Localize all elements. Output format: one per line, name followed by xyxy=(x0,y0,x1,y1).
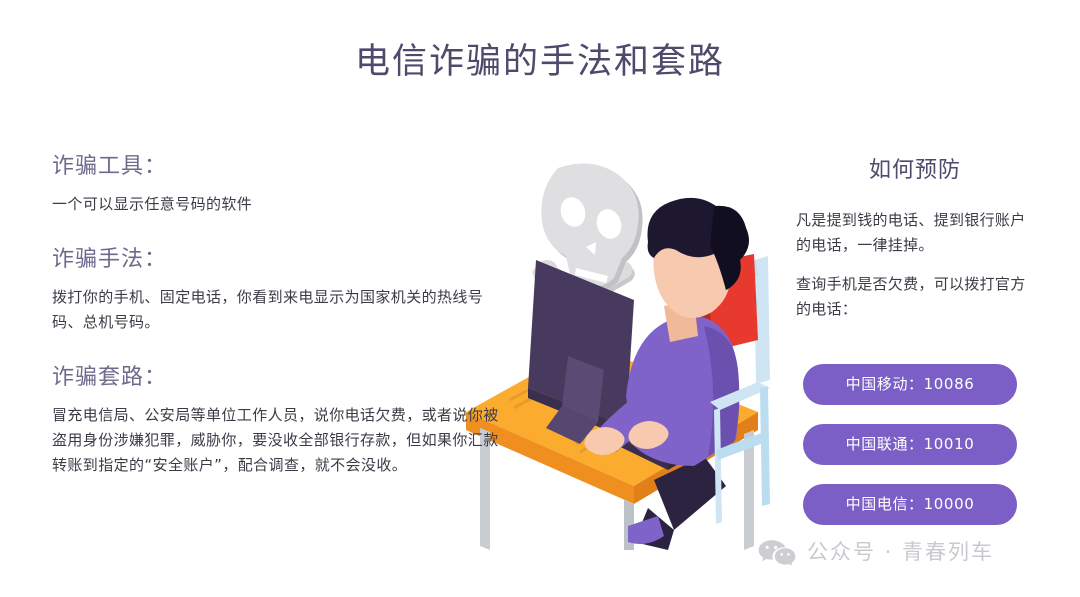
fraud-routine-section: 诈骗套路： 冒充电信局、公安局等单位工作人员，说你电话欠费，或者说你被盗用身份涉… xyxy=(52,363,502,478)
right-column: 如何预防 凡是提到钱的电话、提到银行账户的电话，一律挂掉。 查询手机是否欠费，可… xyxy=(790,156,1040,336)
chair-seat xyxy=(710,382,770,524)
fraud-methods-heading: 诈骗手法： xyxy=(52,245,502,275)
fraud-tools-body: 一个可以显示任意号码的软件 xyxy=(52,192,502,217)
fraud-routine-body: 冒充电信局、公安局等单位工作人员，说你电话欠费，或者说你被盗用身份涉嫌犯罪，威胁… xyxy=(52,403,502,478)
hotline-china-telecom[interactable]: 中国电信：10000 xyxy=(803,484,1017,525)
fraud-tools-section: 诈骗工具： 一个可以显示任意号码的软件 xyxy=(52,152,502,217)
wechat-icon xyxy=(757,539,797,565)
page-title: 电信诈骗的手法和套路 xyxy=(0,38,1080,86)
slide-root: 电信诈骗的手法和套路 xyxy=(0,0,1080,597)
prevention-paragraph-2: 查询手机是否欠费，可以拨打官方的电话： xyxy=(790,272,1040,322)
footer-text: 公众号 · 青春列车 xyxy=(807,539,994,565)
hotline-china-unicom[interactable]: 中国联通：10010 xyxy=(803,424,1017,465)
fraud-routine-heading: 诈骗套路： xyxy=(52,363,502,393)
illustration-person-at-computer-with-skull xyxy=(458,150,818,550)
prevention-heading: 如何预防 xyxy=(790,156,1040,186)
fraud-methods-section: 诈骗手法： 拨打你的手机、固定电话，你看到来电显示为国家机关的热线号码、总机号码… xyxy=(52,245,502,335)
prevention-paragraph-1: 凡是提到钱的电话、提到银行账户的电话，一律挂掉。 xyxy=(790,208,1040,258)
fraud-tools-heading: 诈骗工具： xyxy=(52,152,502,182)
hotline-china-mobile[interactable]: 中国移动：10086 xyxy=(803,364,1017,405)
fraud-methods-body: 拨打你的手机、固定电话，你看到来电显示为国家机关的热线号码、总机号码。 xyxy=(52,285,502,335)
left-column: 诈骗工具： 一个可以显示任意号码的软件 诈骗手法： 拨打你的手机、固定电话，你看… xyxy=(52,152,502,478)
hotline-list: 中国移动：10086 中国联通：10010 中国电信：10000 xyxy=(803,364,1017,544)
footer-watermark: 公众号 · 青春列车 xyxy=(757,539,994,565)
